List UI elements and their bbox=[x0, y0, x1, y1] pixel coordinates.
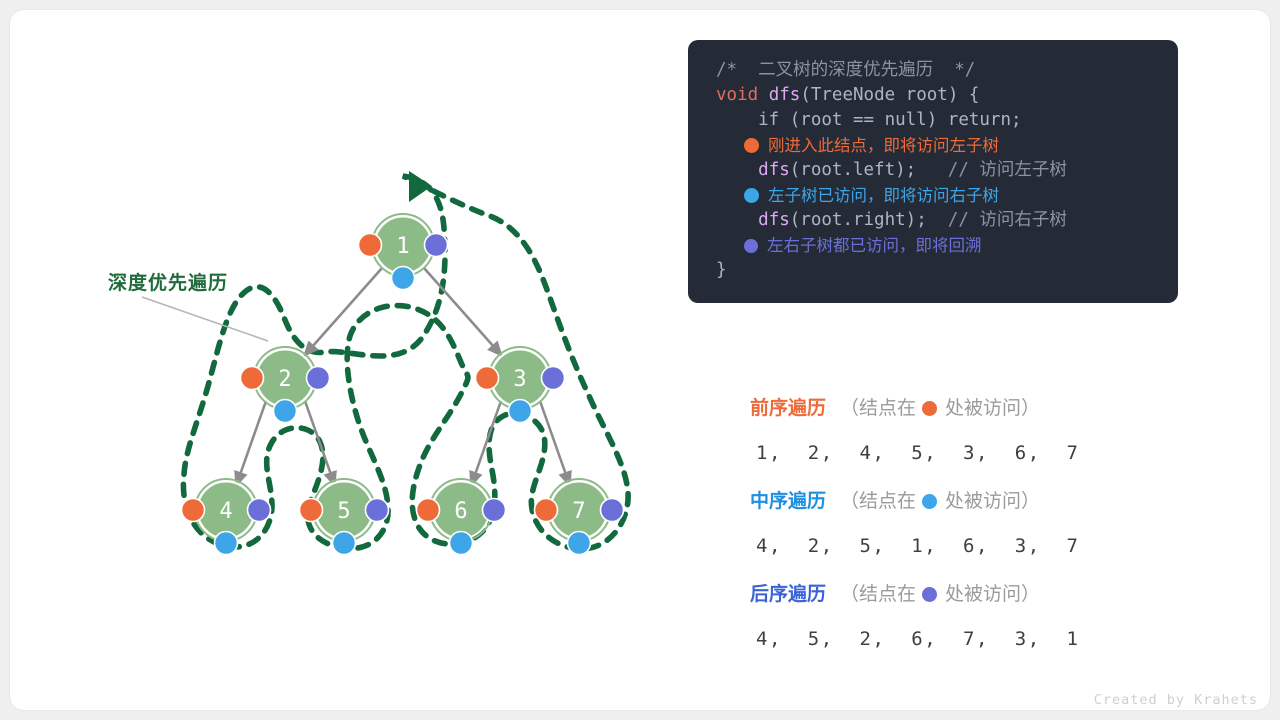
code-panel: /* 二叉树的深度优先遍历 */ void dfs(TreeNode root)… bbox=[688, 40, 1178, 303]
dfs-label-leader-line bbox=[140, 295, 290, 355]
code-comment-header: /* 二叉树的深度优先遍历 */ bbox=[688, 58, 1178, 83]
node-purple-marker-icon bbox=[307, 367, 330, 390]
indent-right bbox=[716, 210, 758, 230]
result-marker-dot-icon-1 bbox=[922, 494, 937, 509]
comment-right: // 访问右子树 bbox=[927, 210, 1067, 230]
note-preorder: 刚进入此结点，即将访问左子树 bbox=[688, 133, 1178, 158]
node-blue-marker-icon bbox=[274, 400, 297, 423]
result-header-1: 中序遍历（结点在处被访问） bbox=[750, 478, 1170, 524]
result-paren-left-0: （结点在 bbox=[840, 385, 916, 431]
node-orange-marker-icon bbox=[359, 234, 382, 257]
result-header-2: 后序遍历（结点在处被访问） bbox=[750, 571, 1170, 617]
args-left: (root.left); bbox=[790, 160, 916, 180]
node-orange-marker-icon bbox=[535, 499, 558, 522]
space-1 bbox=[758, 85, 769, 105]
node-blue-marker-icon bbox=[450, 532, 473, 555]
comment-left: // 访问左子树 bbox=[916, 160, 1067, 180]
node-purple-marker-icon bbox=[366, 499, 389, 522]
args-right: (root.right); bbox=[790, 210, 927, 230]
node-label: 5 bbox=[337, 499, 350, 524]
node-orange-marker-icon bbox=[182, 499, 205, 522]
screenshot-canvas: 1234567 深度优先遍历 /* 二叉树的深度优先遍历 */ void dfs… bbox=[0, 0, 1280, 720]
node-blue-marker-icon bbox=[333, 532, 356, 555]
result-title-0: 前序遍历 bbox=[750, 385, 826, 431]
footer-credit: Created by Krahets bbox=[1094, 692, 1258, 708]
node-orange-marker-icon bbox=[241, 367, 264, 390]
node-label: 1 bbox=[396, 234, 409, 259]
blue-dot-icon bbox=[744, 188, 759, 203]
code-closing-brace: } bbox=[688, 258, 1178, 283]
code-function-signature: void dfs(TreeNode root) { bbox=[688, 83, 1178, 108]
orange-dot-icon bbox=[744, 138, 759, 153]
code-null-check: if (root == null) return; bbox=[688, 108, 1178, 133]
note-postorder-text: 左右子树都已访问，即将回溯 bbox=[767, 233, 982, 258]
node-label: 4 bbox=[219, 499, 232, 524]
node-label: 7 bbox=[572, 499, 585, 524]
keyword-void: void bbox=[716, 85, 758, 105]
code-dfs-left: dfs(root.left); // 访问左子树 bbox=[688, 158, 1178, 183]
node-orange-marker-icon bbox=[417, 499, 440, 522]
start-play-marker bbox=[409, 171, 432, 202]
node-purple-marker-icon bbox=[601, 499, 624, 522]
node-label: 6 bbox=[454, 499, 467, 524]
node-blue-marker-icon bbox=[509, 400, 532, 423]
code-dfs-right: dfs(root.right); // 访问右子树 bbox=[688, 208, 1178, 233]
note-postorder: 左右子树都已访问，即将回溯 bbox=[688, 233, 1178, 258]
indent-left bbox=[716, 160, 758, 180]
traversal-results: 前序遍历（结点在处被访问）1, 2, 4, 5, 3, 6, 7中序遍历（结点在… bbox=[750, 385, 1170, 664]
result-paren-left-2: （结点在 bbox=[840, 571, 916, 617]
node-orange-marker-icon bbox=[476, 367, 499, 390]
node-blue-marker-icon bbox=[215, 532, 238, 555]
note-inorder: 左子树已访问，即将访问右子树 bbox=[688, 183, 1178, 208]
result-block-1: 中序遍历（结点在处被访问）4, 2, 5, 1, 6, 3, 7 bbox=[750, 478, 1170, 568]
result-block-0: 前序遍历（结点在处被访问）1, 2, 4, 5, 3, 6, 7 bbox=[750, 385, 1170, 475]
signature-params: (TreeNode root) { bbox=[800, 85, 979, 105]
node-purple-marker-icon bbox=[542, 367, 565, 390]
result-paren-right-0: 处被访问） bbox=[945, 385, 1040, 431]
note-preorder-text: 刚进入此结点，即将访问左子树 bbox=[768, 133, 999, 158]
result-header-0: 前序遍历（结点在处被访问） bbox=[750, 385, 1170, 431]
result-paren-left-1: （结点在 bbox=[840, 478, 916, 524]
result-marker-dot-icon-2 bbox=[922, 587, 937, 602]
result-paren-right-1: 处被访问） bbox=[945, 478, 1040, 524]
node-blue-marker-icon bbox=[568, 532, 591, 555]
call-dfs-right: dfs bbox=[758, 210, 790, 230]
result-title-1: 中序遍历 bbox=[750, 478, 826, 524]
function-name-dfs: dfs bbox=[769, 85, 801, 105]
node-label: 2 bbox=[278, 367, 291, 392]
tree-node-3[interactable]: 3 bbox=[476, 347, 565, 423]
result-marker-dot-icon-0 bbox=[922, 401, 937, 416]
result-title-2: 后序遍历 bbox=[750, 571, 826, 617]
node-purple-marker-icon bbox=[248, 499, 271, 522]
node-blue-marker-icon bbox=[392, 267, 415, 290]
result-paren-right-2: 处被访问） bbox=[945, 571, 1040, 617]
node-purple-marker-icon bbox=[425, 234, 448, 257]
call-dfs-left: dfs bbox=[758, 160, 790, 180]
tree-node-7[interactable]: 7 bbox=[535, 479, 624, 555]
result-sequence-0: 1, 2, 4, 5, 3, 6, 7 bbox=[750, 431, 1170, 475]
tree-node-4[interactable]: 4 bbox=[182, 479, 271, 555]
tree-node-2[interactable]: 2 bbox=[241, 347, 330, 423]
node-orange-marker-icon bbox=[300, 499, 323, 522]
tree-nodes-layer: 1234567 bbox=[182, 214, 624, 555]
dfs-label: 深度优先遍历 bbox=[108, 268, 228, 295]
result-block-2: 后序遍历（结点在处被访问）4, 5, 2, 6, 7, 3, 1 bbox=[750, 571, 1170, 661]
note-inorder-text: 左子树已访问，即将访问右子树 bbox=[768, 183, 999, 208]
node-label: 3 bbox=[513, 367, 526, 392]
result-sequence-1: 4, 2, 5, 1, 6, 3, 7 bbox=[750, 524, 1170, 568]
result-sequence-2: 4, 5, 2, 6, 7, 3, 1 bbox=[750, 617, 1170, 661]
node-purple-marker-icon bbox=[483, 499, 506, 522]
purple-dot-icon bbox=[744, 239, 758, 253]
binary-tree-svg: 1234567 bbox=[20, 30, 670, 590]
tree-diagram-panel: 1234567 深度优先遍历 bbox=[20, 30, 670, 670]
